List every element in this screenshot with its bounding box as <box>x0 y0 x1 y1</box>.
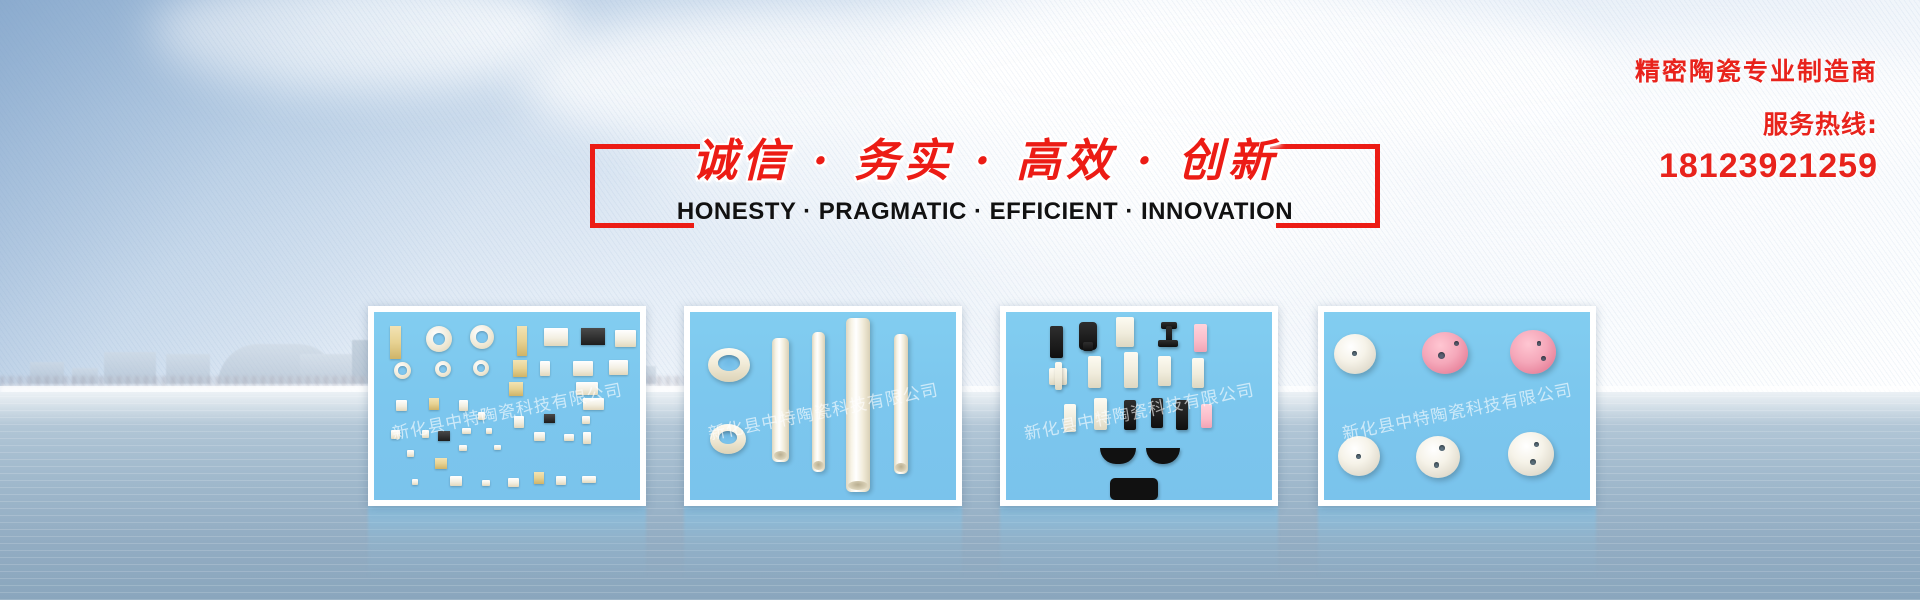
product-panel-ceramic-blocks[interactable]: 新化县中特陶瓷科技有限公司 <box>1000 306 1278 506</box>
hotline-number[interactable]: 18123921259 <box>1635 147 1878 186</box>
promo-banner: 诚信 · 务实 · 高效 · 创新 HONESTY · PRAGMATIC · … <box>0 0 1920 600</box>
product-panel-chip-components[interactable]: 新化县中特陶瓷科技有限公司 <box>368 306 646 506</box>
product-panel-ceramic-discs[interactable]: 新化县中特陶瓷科技有限公司 <box>1318 306 1596 506</box>
product-panel-ceramic-tubes[interactable]: 新化县中特陶瓷科技有限公司 <box>684 306 962 506</box>
slogan-english: HONESTY · PRAGMATIC · EFFICIENT · INNOVA… <box>650 198 1320 226</box>
panel-reflection <box>368 506 646 580</box>
contact-block: 精密陶瓷专业制造商 服务热线: 18123921259 <box>1635 52 1878 186</box>
company-tagline: 精密陶瓷专业制造商 <box>1635 52 1878 88</box>
product-panels: 新化县中特陶瓷科技有限公司 新化县中特陶瓷科技有限公司 <box>368 306 1596 506</box>
slogan-chinese: 诚信 · 务实 · 高效 · 创新 <box>690 130 1280 192</box>
panel-reflection <box>1318 506 1596 580</box>
slogan-block: 诚信 · 务实 · 高效 · 创新 HONESTY · PRAGMATIC · … <box>590 130 1380 240</box>
hotline-label: 服务热线: <box>1635 105 1878 141</box>
panel-reflection <box>1000 506 1278 580</box>
panel-reflection <box>684 506 962 580</box>
